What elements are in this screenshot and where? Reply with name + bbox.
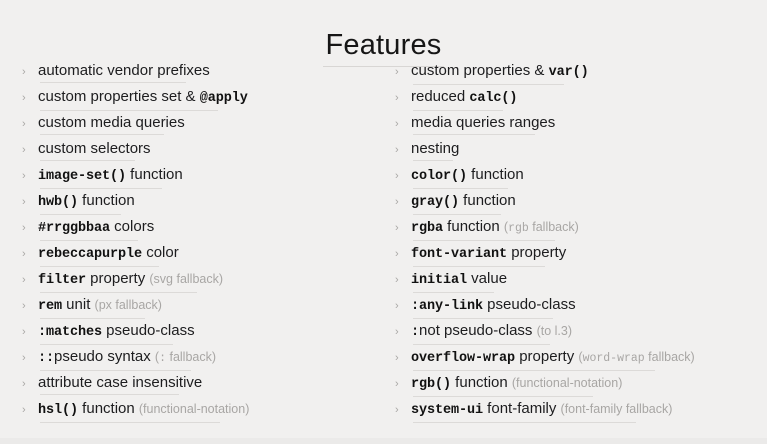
feature-text-run: :: [38, 351, 54, 366]
feature-item-label: ::pseudo syntax (: fallback) [38, 344, 216, 372]
feature-item[interactable]: ›color() function [395, 162, 766, 188]
chevron-right-icon: › [22, 59, 38, 85]
feature-item-label: color() function [411, 162, 524, 190]
feature-item[interactable]: ›media queries ranges [395, 110, 766, 136]
feature-text-run: rgb [508, 222, 529, 235]
feature-text-run: property [86, 270, 149, 287]
feature-item[interactable]: ›reduced calc() [395, 84, 766, 110]
feature-text-run: system-ui [411, 403, 483, 418]
feature-column-left: ›automatic vendor prefixes›custom proper… [0, 58, 383, 422]
feature-item[interactable]: ›overflow-wrap property (word-wrap fallb… [395, 344, 766, 370]
feature-item-label: system-ui font-family (font-family fallb… [411, 396, 672, 424]
feature-item-label: rem unit (px fallback) [38, 292, 162, 320]
chevron-right-icon: › [22, 111, 38, 137]
feature-item[interactable]: ›rgb() function (functional-notation) [395, 370, 766, 396]
feature-text-run: fallback) [166, 350, 216, 364]
feature-item-label: :matches pseudo-class [38, 318, 195, 346]
feature-text-run: (svg fallback) [149, 272, 223, 286]
feature-text-run: reduced [411, 88, 469, 105]
feature-text-run: function [459, 192, 516, 209]
chevron-right-icon: › [22, 371, 38, 397]
chevron-right-icon: › [22, 241, 38, 267]
chevron-right-icon: › [395, 371, 411, 397]
feature-item-label: media queries ranges [411, 110, 555, 136]
feature-item[interactable]: ›image-set() function [22, 162, 383, 188]
chevron-right-icon: › [395, 111, 411, 137]
feature-item-label: rebeccapurple color [38, 240, 179, 268]
feature-text-run: var() [549, 65, 589, 80]
feature-item-label: automatic vendor prefixes [38, 58, 210, 84]
feature-text-run: color [142, 244, 179, 261]
feature-item[interactable]: ›rem unit (px fallback) [22, 292, 383, 318]
feature-text-run: property [515, 348, 578, 365]
feature-item-label: hwb() function [38, 188, 135, 216]
feature-text-run: property [507, 244, 566, 261]
feature-text-run: function [467, 166, 524, 183]
feature-text-run: unit [62, 296, 95, 313]
feature-item-label: hsl() function (functional-notation) [38, 396, 249, 424]
feature-item-label: custom media queries [38, 110, 185, 136]
feature-text-run: (functional-notation) [139, 402, 249, 416]
feature-item[interactable]: ›::pseudo syntax (: fallback) [22, 344, 383, 370]
feature-text-run: nesting [411, 140, 459, 157]
feature-item[interactable]: ›:any-link pseudo-class [395, 292, 766, 318]
feature-text-run: (to l.3) [537, 324, 572, 338]
chevron-right-icon: › [395, 267, 411, 293]
feature-item[interactable]: ›:not pseudo-class (to l.3) [395, 318, 766, 344]
feature-item[interactable]: ›rgba function (rgb fallback) [395, 214, 766, 240]
chevron-right-icon: › [22, 215, 38, 241]
feature-item[interactable]: ›hsl() function (functional-notation) [22, 396, 383, 422]
feature-item[interactable]: ›filter property (svg fallback) [22, 266, 383, 292]
feature-text-run: not pseudo-class [419, 322, 537, 339]
feature-item-label: rgba function (rgb fallback) [411, 214, 579, 242]
chevron-right-icon: › [395, 241, 411, 267]
feature-text-run: function [451, 374, 512, 391]
feature-item[interactable]: ›automatic vendor prefixes [22, 58, 383, 84]
feature-text-run: #rrggbbaa [38, 221, 110, 236]
feature-item-label: custom selectors [38, 136, 151, 162]
feature-text-run: custom properties & [411, 62, 549, 79]
feature-text-run: word-wrap [583, 352, 645, 365]
feature-item[interactable]: ›initial value [395, 266, 766, 292]
feature-item[interactable]: ›gray() function [395, 188, 766, 214]
feature-item[interactable]: ›custom selectors [22, 136, 383, 162]
feature-text-run: font-family [483, 400, 561, 417]
feature-text-run: pseudo-class [483, 296, 576, 313]
feature-text-run: (functional-notation) [512, 376, 622, 390]
chevron-right-icon: › [22, 163, 38, 189]
feature-text-run: function [443, 218, 504, 235]
feature-text-run: calc() [469, 91, 517, 106]
feature-item-label: image-set() function [38, 162, 183, 190]
feature-text-run: attribute case insensitive [38, 374, 202, 391]
feature-text-run: custom properties set & [38, 88, 200, 105]
feature-text-run: font-variant [411, 247, 507, 262]
feature-text-run: image-set() [38, 169, 126, 184]
feature-item-label: reduced calc() [411, 84, 517, 112]
slide-root: Features ›automatic vendor prefixes›cust… [0, 0, 767, 444]
feature-text-run: fallback) [529, 220, 579, 234]
feature-item-label: filter property (svg fallback) [38, 266, 223, 294]
chevron-right-icon: › [22, 345, 38, 371]
feature-item-label: gray() function [411, 188, 516, 216]
feature-item[interactable]: ›rebeccapurple color [22, 240, 383, 266]
feature-item-label: attribute case insensitive [38, 370, 202, 396]
chevron-right-icon: › [22, 85, 38, 111]
feature-text-run: rebeccapurple [38, 247, 142, 262]
chevron-right-icon: › [22, 319, 38, 345]
feature-text-run: colors [110, 218, 154, 235]
feature-text-run: (font-family fallback) [561, 402, 673, 416]
feature-text-run: function [126, 166, 183, 183]
feature-text-run: initial [411, 273, 467, 288]
feature-item[interactable]: ›hwb() function [22, 188, 383, 214]
feature-text-run: automatic vendor prefixes [38, 62, 210, 79]
feature-list-right: ›custom properties & var()›reduced calc(… [395, 58, 766, 422]
chevron-right-icon: › [395, 397, 411, 423]
feature-text-run: (px fallback) [95, 298, 162, 312]
feature-text-run: rem [38, 299, 62, 314]
chevron-right-icon: › [395, 215, 411, 241]
feature-text-run: media queries ranges [411, 114, 555, 131]
feature-item-label: custom properties set & @apply [38, 84, 248, 112]
feature-item-label: initial value [411, 266, 507, 294]
chevron-right-icon: › [22, 293, 38, 319]
feature-text-run: :matches [38, 325, 102, 340]
feature-text-run: gray() [411, 195, 459, 210]
feature-column-right: ›custom properties & var()›reduced calc(… [383, 58, 766, 422]
feature-item-label: overflow-wrap property (word-wrap fallba… [411, 344, 695, 372]
chevron-right-icon: › [22, 189, 38, 215]
chevron-right-icon: › [395, 319, 411, 345]
feature-text-run: pseudo-class [102, 322, 195, 339]
feature-text-run: value [467, 270, 507, 287]
feature-text-run: : [159, 352, 166, 365]
feature-item-label: font-variant property [411, 240, 566, 268]
chevron-right-icon: › [395, 345, 411, 371]
feature-item-label: custom properties & var() [411, 58, 589, 86]
feature-text-run: hsl() [38, 403, 78, 418]
chevron-right-icon: › [395, 163, 411, 189]
feature-text-run: rgb() [411, 377, 451, 392]
feature-text-run: pseudo syntax [54, 348, 155, 365]
feature-item-label: rgb() function (functional-notation) [411, 370, 622, 398]
chevron-right-icon: › [22, 137, 38, 163]
feature-item-label: #rrggbbaa colors [38, 214, 154, 242]
feature-text-run: filter [38, 273, 86, 288]
feature-item[interactable]: ›custom properties & var() [395, 58, 766, 84]
feature-text-run: function [78, 192, 135, 209]
feature-text-run: fallback) [645, 350, 695, 364]
feature-item[interactable]: ›attribute case insensitive [22, 370, 383, 396]
feature-item[interactable]: ›system-ui font-family (font-family fall… [395, 396, 766, 422]
chevron-right-icon: › [22, 267, 38, 293]
feature-text-run: color() [411, 169, 467, 184]
feature-item-label: :not pseudo-class (to l.3) [411, 318, 572, 346]
feature-text-run: overflow-wrap [411, 351, 515, 366]
feature-text-run: rgba [411, 221, 443, 236]
feature-item[interactable]: ›font-variant property [395, 240, 766, 266]
feature-text-run: custom media queries [38, 114, 185, 131]
feature-item-label: :any-link pseudo-class [411, 292, 576, 320]
feature-item[interactable]: ›nesting [395, 136, 766, 162]
feature-columns: ›automatic vendor prefixes›custom proper… [0, 58, 767, 422]
chevron-right-icon: › [395, 59, 411, 85]
feature-text-run: : [411, 325, 419, 340]
feature-text-run: function [78, 400, 139, 417]
feature-text-run: @apply [200, 91, 248, 106]
feature-item[interactable]: ›custom properties set & @apply [22, 84, 383, 110]
feature-item[interactable]: ›#rrggbbaa colors [22, 214, 383, 240]
bottom-strip [0, 438, 767, 444]
feature-item[interactable]: ›:matches pseudo-class [22, 318, 383, 344]
feature-text-run: :any-link [411, 299, 483, 314]
feature-item[interactable]: ›custom media queries [22, 110, 383, 136]
feature-text-run: hwb() [38, 195, 78, 210]
chevron-right-icon: › [395, 137, 411, 163]
feature-item-label: nesting [411, 136, 459, 162]
feature-text-run: custom selectors [38, 140, 151, 157]
chevron-right-icon: › [395, 293, 411, 319]
chevron-right-icon: › [395, 85, 411, 111]
feature-list-left: ›automatic vendor prefixes›custom proper… [22, 58, 383, 422]
chevron-right-icon: › [22, 397, 38, 423]
chevron-right-icon: › [395, 189, 411, 215]
